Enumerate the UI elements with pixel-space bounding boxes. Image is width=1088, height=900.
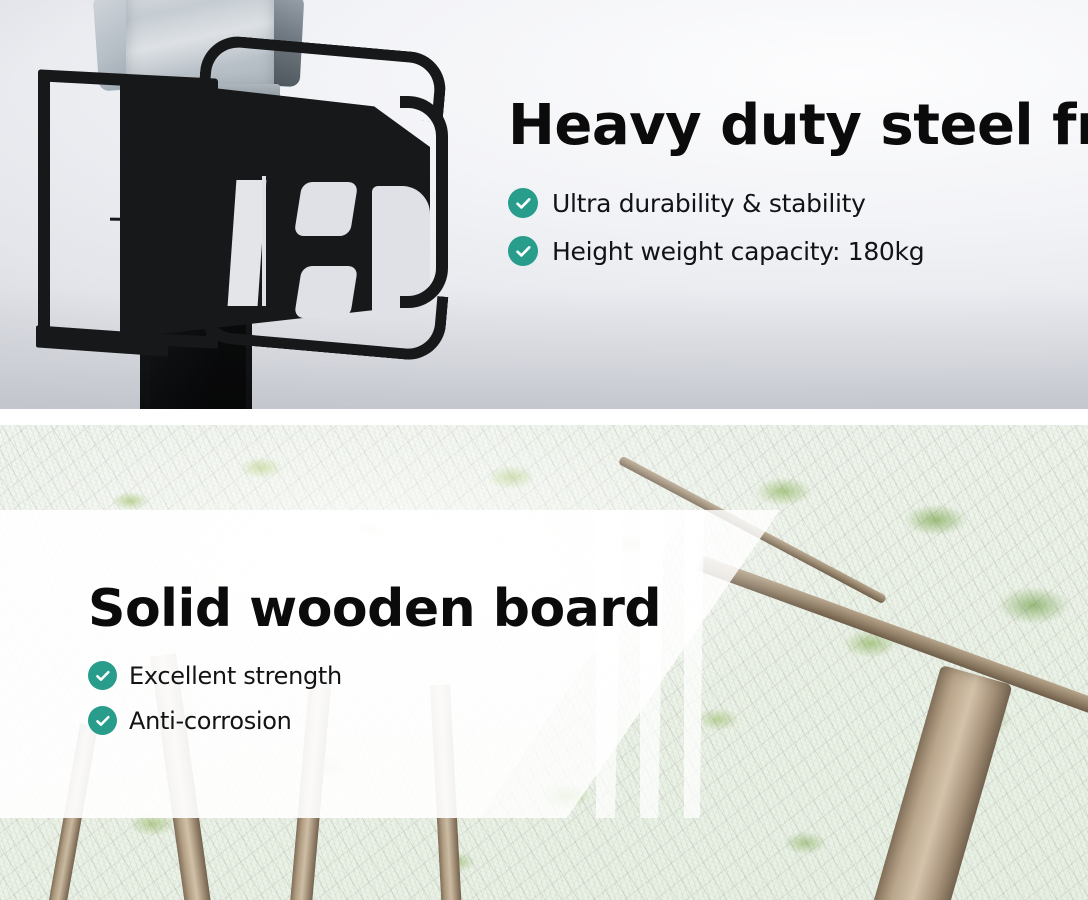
- trolley-plate-divider: [120, 80, 125, 340]
- feature-list-top: Ultra durability & stability Height weig…: [508, 188, 1068, 266]
- check-circle-icon: [508, 236, 538, 266]
- feature-item: Height weight capacity: 180kg: [508, 236, 1068, 266]
- check-circle-icon: [508, 188, 538, 218]
- steel-hand-truck-frame: [0, 0, 470, 409]
- copy-block-top: Heavy duty steel frame Ultra durability …: [508, 98, 1068, 284]
- feature-label: Anti-corrosion: [129, 707, 292, 735]
- feature-label: Excellent strength: [129, 662, 342, 690]
- feature-label: Height weight capacity: 180kg: [552, 237, 924, 266]
- feature-list-bottom: Excellent strength Anti-corrosion: [88, 661, 708, 735]
- headline-heavy-duty-steel-frame: Heavy duty steel frame: [508, 98, 1068, 154]
- trolley-nose-rail: [400, 96, 448, 308]
- trolley-cutout-top: [294, 182, 359, 236]
- product-feature-banner: Heavy duty steel frame Ultra durability …: [0, 0, 1088, 900]
- feature-item: Excellent strength: [88, 661, 708, 690]
- panel-solid-wooden-board: Solid wooden board Excellent strength: [0, 425, 1088, 900]
- feature-label: Ultra durability & stability: [552, 189, 866, 218]
- headline-solid-wooden-board: Solid wooden board: [88, 583, 708, 635]
- check-circle-icon: [88, 706, 117, 735]
- feature-item: Ultra durability & stability: [508, 188, 1068, 218]
- trolley-base-plate: [38, 69, 218, 348]
- check-circle-icon: [88, 661, 117, 690]
- product-photo-hand-truck: [0, 0, 470, 409]
- copy-block-bottom: Solid wooden board Excellent strength: [88, 583, 708, 751]
- feature-item: Anti-corrosion: [88, 706, 708, 735]
- panel-heavy-duty-steel-frame: Heavy duty steel frame Ultra durability …: [0, 0, 1088, 409]
